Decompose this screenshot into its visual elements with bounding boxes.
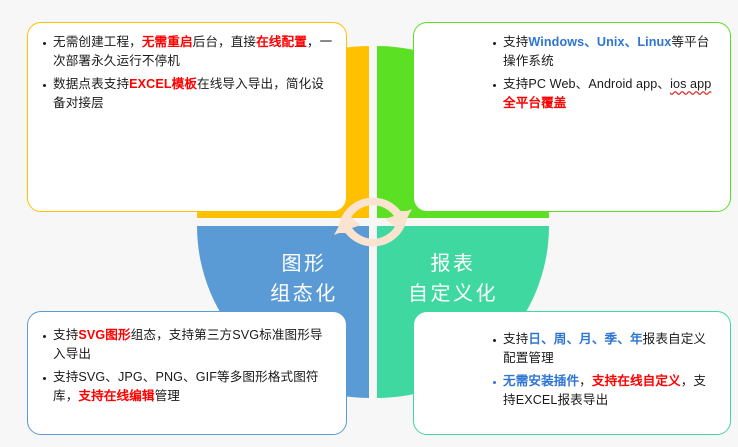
- callout-cross-platform-list: 支持Windows、Unix、Linux等平台操作系统 支持PC Web、And…: [414, 23, 730, 113]
- list-item: 支持PC Web、Android app、ios app全平台覆盖: [492, 75, 718, 113]
- quadrant-label-graphics: 图形 组态化: [239, 249, 369, 309]
- callout-graphics-list: 支持SVG图形组态，支持第三方SVG标准图形导入导出 支持SVG、JPG、PNG…: [28, 312, 346, 406]
- callout-report-list: 支持日、周、月、季、年报表自定义配置管理 无需安装插件，支持在线自定义，支持EX…: [414, 312, 730, 410]
- callout-cross-platform: 支持Windows、Unix、Linux等平台操作系统 支持PC Web、And…: [413, 22, 731, 212]
- list-item: 支持日、周、月、季、年报表自定义配置管理: [492, 330, 718, 368]
- list-item: 支持SVG、JPG、PNG、GIF等多图形格式图符库，支持在线编辑管理: [42, 368, 334, 406]
- callout-online-list: 无需创建工程，无需重启后台，直接在线配置，一次部署永久运行不停机 数据点表支持E…: [28, 23, 346, 113]
- callout-graphics: 支持SVG图形组态，支持第三方SVG标准图形导入导出 支持SVG、JPG、PNG…: [27, 311, 347, 435]
- quadrant-label-report: 报表 自定义化: [383, 249, 523, 309]
- list-item: 无需安装插件，支持在线自定义，支持EXCEL报表导出: [492, 372, 718, 410]
- list-item: 无需创建工程，无需重启后台，直接在线配置，一次部署永久运行不停机: [42, 33, 334, 71]
- callout-online: 无需创建工程，无需重启后台，直接在线配置，一次部署永久运行不停机 数据点表支持E…: [27, 22, 347, 212]
- callout-report: 支持日、周、月、季、年报表自定义配置管理 无需安装插件，支持在线自定义，支持EX…: [413, 311, 731, 435]
- list-item: 支持SVG图形组态，支持第三方SVG标准图形导入导出: [42, 326, 334, 364]
- list-item: 支持Windows、Unix、Linux等平台操作系统: [492, 33, 718, 71]
- diagram-canvas: 在线化 跨 平台化 图形 组态化 报表 自定义化 无需创建工程，无需重启后台，直…: [0, 0, 738, 447]
- list-item: 数据点表支持EXCEL模板在线导入导出，简化设备对接层: [42, 75, 334, 113]
